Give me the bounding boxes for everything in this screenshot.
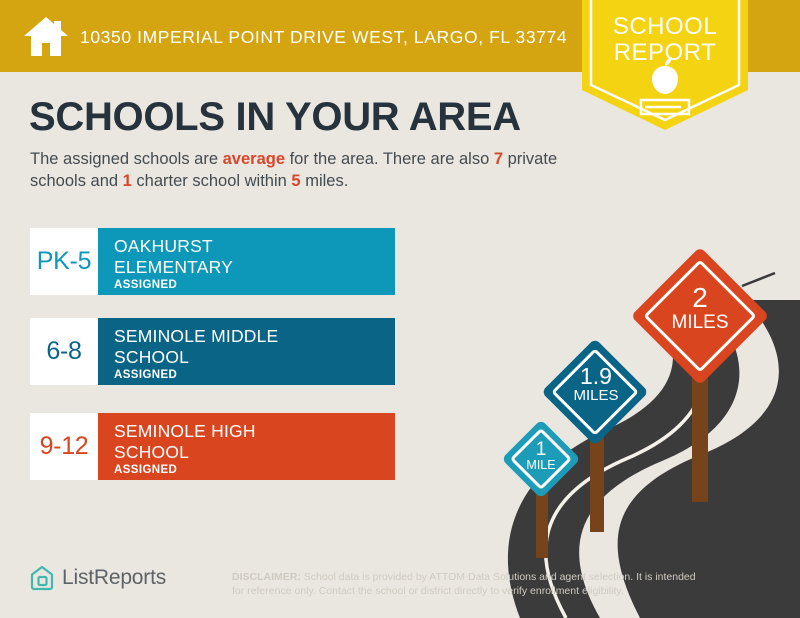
disclaimer-label: DISCLAIMER: (232, 571, 301, 583)
logo-text: ListReports (62, 566, 166, 590)
listreports-house-tag-icon (30, 565, 54, 591)
disclaimer-body: School data is provided by ATTOM Data So… (232, 571, 696, 597)
listreports-logo[interactable]: ListReports (30, 565, 166, 591)
sign-label: 2 MILES (630, 284, 770, 332)
disclaimer: DISCLAIMER: School data is provided by A… (232, 570, 702, 598)
sign-distance-value: 2 (630, 284, 770, 313)
school-report-infographic: 10350 IMPERIAL POINT DRIVE WEST, LARGO, … (0, 0, 800, 618)
distance-sign[interactable]: 2 MILES (630, 252, 770, 522)
sign-distance-unit: MILES (630, 313, 770, 332)
